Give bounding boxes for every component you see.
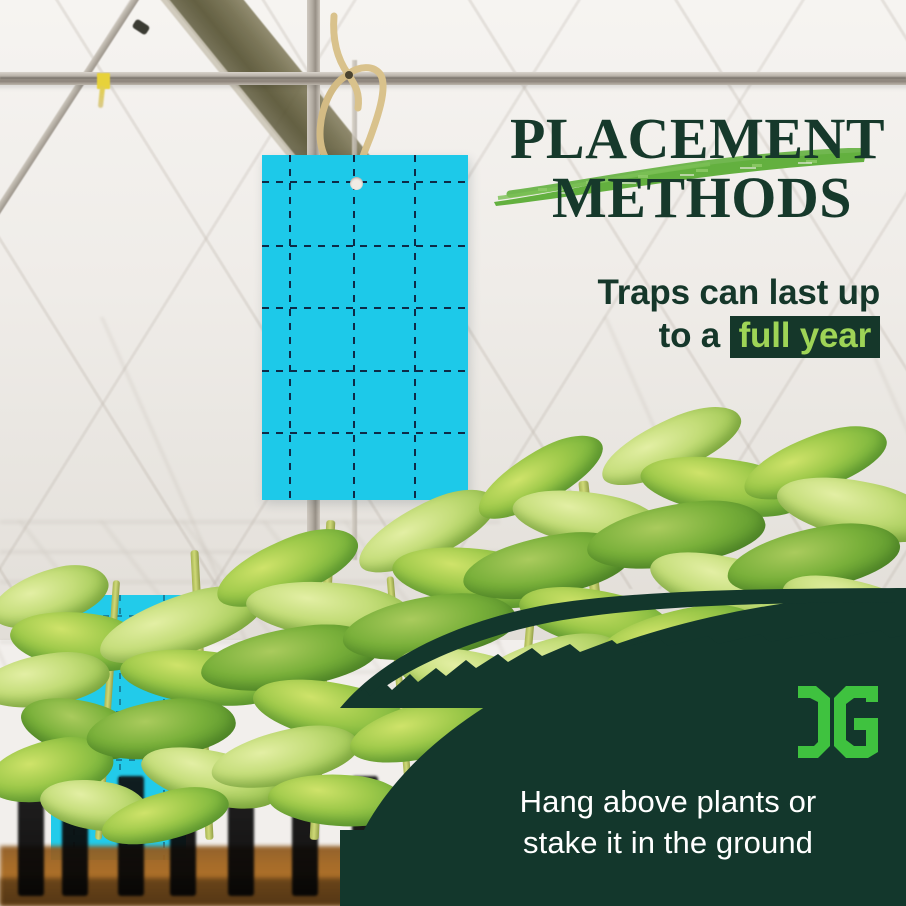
subtitle-line-2: to a full year	[470, 315, 880, 359]
horizontal-wire	[0, 77, 906, 79]
dg-monogram-logo-icon	[796, 684, 880, 760]
page-title-line-1: PLACEMENT	[510, 110, 885, 168]
subtitle-block: Traps can last up to a full year	[470, 272, 880, 358]
subtitle-line-2-prefix: to a	[659, 316, 730, 355]
status-badge-full-year: full year	[730, 316, 880, 359]
infographic-canvas: PLACEMENT METHODS Traps can last up to a…	[0, 0, 906, 906]
footer-caption-line-2: stake it in the ground	[448, 823, 888, 864]
subtitle-line-1: Traps can last up	[470, 272, 880, 315]
trap-hanging-hole	[350, 177, 363, 190]
title-block: PLACEMENT METHODS	[470, 110, 890, 235]
page-title-line-2: METHODS	[552, 169, 852, 227]
footer-caption-line-1: Hang above plants or	[448, 782, 888, 823]
footer-caption: Hang above plants or stake it in the gro…	[448, 782, 888, 864]
